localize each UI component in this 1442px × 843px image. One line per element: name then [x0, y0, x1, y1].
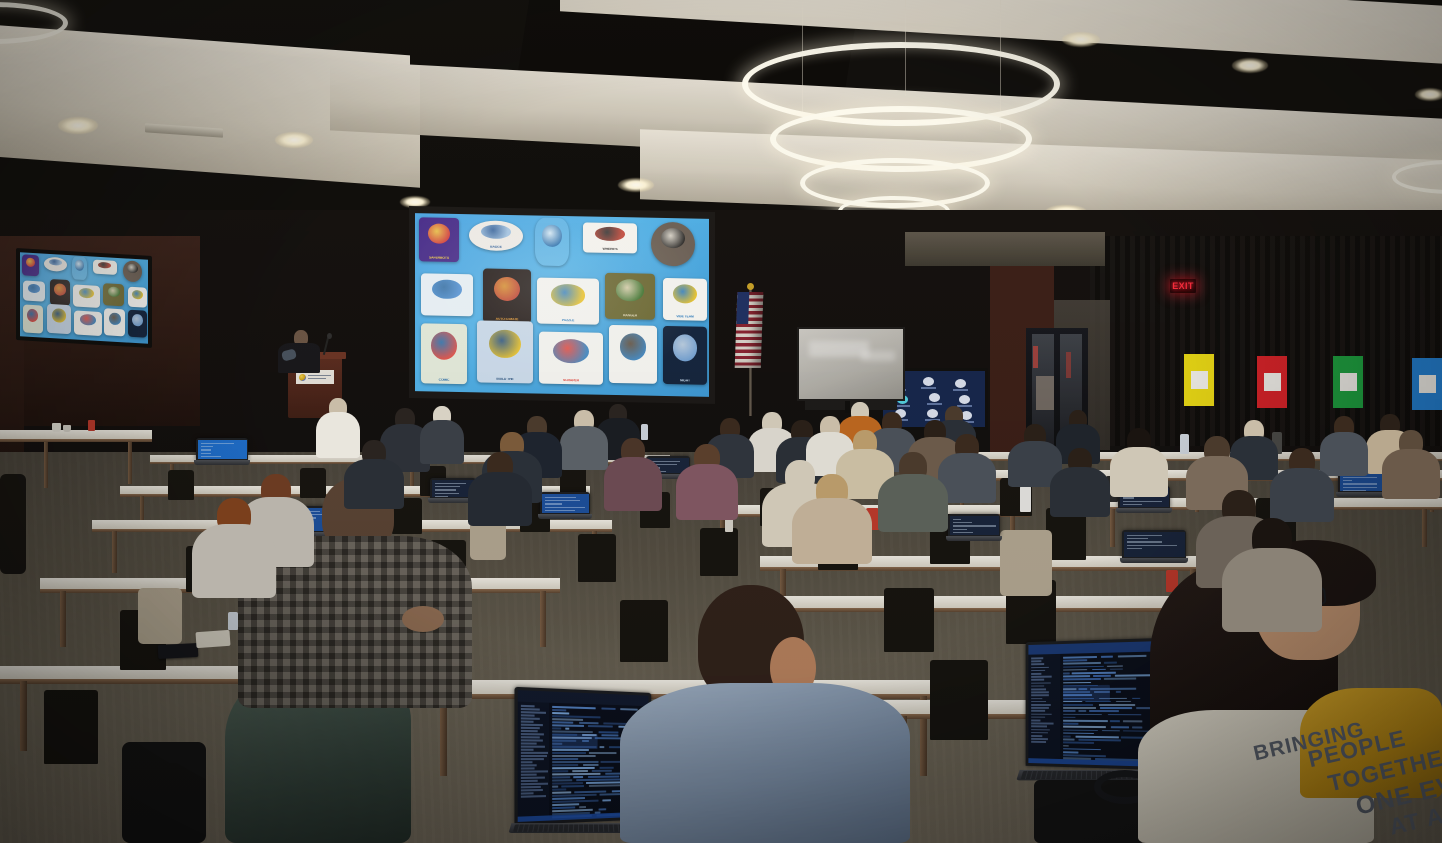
audience-torso: [604, 457, 662, 511]
code-line: [552, 779, 572, 781]
file-tree-item[interactable]: [1031, 695, 1048, 697]
screen-line: [1127, 535, 1163, 536]
speaker: [276, 330, 320, 372]
screen-line: [201, 449, 212, 450]
screen-line: [201, 456, 221, 457]
slide-tile-motif: [80, 314, 96, 326]
poster-red: [1257, 356, 1287, 408]
slide-tile-blue-character: [421, 273, 473, 316]
code-line: [552, 721, 573, 723]
code-line: [1063, 675, 1090, 677]
code-line: [586, 781, 621, 783]
audience-member: [1050, 448, 1110, 524]
chair[interactable]: [168, 470, 194, 500]
slide-tile-motif: [98, 262, 111, 269]
file-tree-item[interactable]: [521, 786, 541, 788]
code-line: [552, 782, 582, 784]
smartphone[interactable]: [158, 643, 199, 659]
slide-tile-shield-badge: [44, 256, 68, 272]
downlight: [618, 178, 654, 192]
file-tree-item[interactable]: [521, 746, 545, 748]
slide-tile-motif: [620, 333, 647, 360]
attendee-foreground-center: [620, 585, 910, 843]
code-line: [1132, 727, 1141, 729]
chair[interactable]: [930, 660, 988, 740]
code-line: [552, 803, 579, 805]
slide-tile-saferbots: [22, 254, 39, 276]
code-selection: [1063, 685, 1110, 701]
slide-tile-vibe-team: VIBE TEAM: [663, 278, 707, 321]
slide-tile-field-ranger: RANGER: [605, 273, 655, 320]
screen-line: [545, 497, 576, 498]
downlight: [275, 132, 313, 148]
code-line: [1111, 727, 1129, 729]
file-tree-item[interactable]: [521, 749, 534, 751]
file-tree-item[interactable]: [1031, 735, 1042, 737]
file-tree-item[interactable]: [1031, 698, 1042, 700]
file-tree-item[interactable]: [1031, 710, 1045, 712]
file-tree-item[interactable]: [1031, 738, 1048, 740]
code-line: [601, 734, 618, 736]
file-tree-item[interactable]: [521, 789, 543, 791]
file-tree-item[interactable]: [521, 733, 544, 735]
main-projection-screen[interactable]: SAFERBOTSBADGEWHERE'SAUTO-O-MATEPUZZLERA…: [415, 213, 709, 397]
audience-member: [192, 498, 276, 608]
audience-torso: [878, 474, 948, 532]
code-line: [1132, 697, 1141, 699]
audience-member: [1110, 428, 1168, 504]
slide-tile-label: WHERE'S: [583, 248, 637, 253]
code-line: [552, 755, 596, 757]
file-tree-item[interactable]: [1031, 670, 1045, 672]
slide-tile-blue-character: [23, 281, 46, 302]
cup[interactable]: [63, 425, 71, 432]
file-tree-item[interactable]: [1031, 732, 1047, 734]
code-line: [552, 791, 571, 793]
file-tree-item[interactable]: [1031, 719, 1041, 721]
slide-tile-motif: [489, 329, 520, 358]
code-line: [1063, 726, 1105, 728]
code-line: [1123, 720, 1142, 722]
slide-tile-motif: [127, 263, 138, 273]
file-tree-item[interactable]: [1031, 676, 1051, 678]
file-tree-item[interactable]: [1031, 682, 1051, 684]
monitor-node-icon: [959, 395, 970, 404]
code-line: [588, 725, 614, 727]
code-line: [552, 709, 567, 711]
screen-line: [1343, 487, 1378, 488]
audience-member: [1222, 518, 1322, 644]
code-line: [1063, 701, 1082, 703]
slide-tile-label: BUILD THE: [477, 378, 533, 383]
file-tree-item[interactable]: [521, 795, 546, 797]
file-tree-item[interactable]: [1031, 685, 1044, 687]
code-line: [552, 758, 578, 760]
file-tree-item[interactable]: [521, 792, 533, 794]
code-line: [1063, 656, 1097, 658]
file-tree-item[interactable]: [1031, 704, 1051, 706]
audience-torso: [792, 498, 872, 564]
code-line: [1072, 672, 1116, 674]
slide-tile-auto-o-mate: [50, 279, 71, 306]
audience-member: [420, 406, 464, 470]
slide-tile-motif: [79, 288, 94, 299]
audience-torso: [192, 524, 276, 598]
laptop-lid: [540, 492, 590, 514]
slide-tile-scraper-sprint: SCRAPER: [539, 332, 603, 385]
code-line: [1093, 675, 1111, 677]
laptop-lid: [948, 514, 1000, 536]
slide-tile-label: BADGE: [469, 246, 523, 251]
projection-screen-frame: SAFERBOTSBADGEWHERE'SAUTO-O-MATEPUZZLERA…: [409, 206, 715, 404]
table-leg: [20, 681, 27, 751]
code-line: [1063, 659, 1087, 661]
slide-tile-scraper-sprint: [74, 310, 102, 336]
code-line: [1103, 662, 1116, 664]
slide-tile-motif: [432, 279, 461, 299]
laptop-base: [1336, 492, 1386, 497]
code-line: [599, 767, 613, 769]
chair-upholstered[interactable]: [138, 588, 182, 644]
exit-sign-label: EXIT: [1172, 281, 1194, 291]
file-tree-item[interactable]: [1031, 679, 1044, 681]
cup[interactable]: [52, 423, 61, 432]
code-line: [552, 773, 600, 775]
slide-tile-astronaut-mascot: [72, 256, 87, 280]
left-wall-monitor-frame: [16, 248, 152, 348]
code-line: [1085, 701, 1111, 703]
downlight: [1232, 58, 1268, 73]
slide-tile-motif: [54, 283, 66, 295]
code-line: [1116, 701, 1131, 703]
screen-line: [1127, 548, 1143, 549]
file-tree-item[interactable]: [521, 770, 548, 772]
monitor-node-icon: [929, 393, 940, 402]
audience-torso: [1110, 447, 1168, 497]
screen-line: [201, 453, 211, 454]
slide-tile-puzzle-quest: [73, 285, 100, 308]
code-line: [1110, 720, 1120, 722]
monitor-node-label: [927, 403, 942, 405]
laptop-screen[interactable]: [198, 440, 247, 459]
file-tree-item[interactable]: [1031, 716, 1045, 718]
laptop[interactable]: [196, 438, 248, 465]
file-tree-item[interactable]: [521, 761, 532, 763]
code-line: [1063, 729, 1098, 731]
file-tree-item[interactable]: [521, 774, 537, 776]
slide-tile-motif: [542, 224, 561, 246]
code-line: [1078, 739, 1121, 741]
audience-torso: [1050, 467, 1110, 517]
slide-tile-motif: [661, 228, 686, 249]
code-line: [1063, 720, 1108, 722]
table-leg: [112, 531, 117, 573]
laptop-screen[interactable]: [950, 516, 999, 535]
slide-tile-raccoon-mascot: [609, 325, 657, 384]
slide-tile-night-drive: NIGHT: [663, 326, 707, 385]
file-tree-item[interactable]: [1031, 691, 1049, 693]
file-tree-item[interactable]: [1031, 688, 1046, 690]
code-line: [1063, 723, 1078, 725]
file-tree-item[interactable]: [1031, 726, 1047, 728]
paper-notes[interactable]: [195, 630, 230, 648]
file-tree-item[interactable]: [521, 727, 540, 729]
code-line: [552, 770, 569, 772]
slide-tile-raccoon-mascot: [104, 308, 125, 337]
file-tree-item[interactable]: [521, 752, 548, 754]
slide-tile-label: SCRAPER: [539, 379, 603, 384]
code-line: [1063, 732, 1094, 734]
chair-upholstered[interactable]: [1000, 530, 1052, 596]
table-leg: [60, 591, 66, 647]
code-selection: [552, 733, 597, 749]
audience-member: [878, 452, 948, 540]
slide-tile-motif: [428, 224, 450, 245]
file-tree-item[interactable]: [521, 736, 540, 738]
code-line: [565, 728, 569, 730]
chair[interactable]: [700, 528, 738, 576]
slide-tile-motif: [673, 284, 698, 304]
code-line: [601, 708, 616, 710]
code-line: [573, 776, 583, 778]
code-line: [1063, 745, 1068, 747]
file-tree-item[interactable]: [521, 758, 544, 760]
audience-torso: [676, 464, 738, 520]
code-line: [1063, 678, 1101, 680]
laptop-lid: [1122, 530, 1186, 558]
code-line: [598, 808, 606, 810]
screen-line: [201, 446, 213, 447]
code-line: [552, 718, 583, 720]
screen-line: [1127, 538, 1148, 539]
laptop-base: [946, 536, 1002, 541]
slide-tile-comic-cover: [23, 304, 43, 334]
screen-line: [545, 507, 586, 508]
file-tree-item[interactable]: [521, 724, 543, 726]
slide-tile-motif: [595, 227, 625, 241]
downlight: [1062, 32, 1100, 47]
slide-tile-motif: [109, 312, 121, 325]
table-leg: [1422, 509, 1427, 547]
code-line: [576, 778, 621, 780]
left-wall-monitor[interactable]: [20, 252, 148, 344]
file-tree-item[interactable]: [1031, 673, 1041, 675]
podium-logo-icon: [299, 374, 306, 381]
code-line: [1063, 748, 1101, 750]
audience-member: [676, 444, 738, 528]
chair[interactable]: [578, 534, 616, 582]
file-tree-item[interactable]: [521, 739, 543, 741]
laptop[interactable]: [948, 514, 1000, 541]
slide-tile-motif: [132, 314, 143, 327]
code-line: [552, 730, 593, 732]
audience-torso: [560, 426, 608, 470]
screen-line: [953, 522, 972, 523]
slide-tile-label: RANGER: [605, 314, 655, 319]
file-tree-item[interactable]: [521, 742, 537, 744]
file-tree-item[interactable]: [521, 783, 548, 785]
file-tree-item[interactable]: [1031, 657, 1043, 659]
code-line: [1089, 710, 1119, 712]
downlight: [58, 117, 98, 134]
code-line: [1107, 665, 1123, 667]
code-line: [552, 727, 561, 729]
file-tree-item[interactable]: [1031, 723, 1053, 725]
monitor-node-icon: [923, 377, 934, 386]
audience-torso: [344, 459, 404, 509]
slide-tile-motif: [27, 308, 38, 322]
audience-member: [792, 474, 872, 574]
monitor-node-label: [953, 389, 968, 391]
wall-ledge: [905, 232, 1105, 266]
file-tree-item[interactable]: [521, 705, 535, 707]
slide-tile-motif: [49, 259, 62, 266]
american-flag: [735, 292, 764, 368]
podium-plaque-lines: [308, 374, 331, 381]
code-line: [1110, 668, 1122, 670]
code-line: [1063, 665, 1103, 667]
code-line: [583, 764, 599, 766]
file-tree-item[interactable]: [1031, 660, 1041, 662]
file-tree-item[interactable]: [521, 764, 537, 766]
slide-tile-motif: [494, 276, 521, 301]
slide-tile-puzzle-quest: PUZZLE: [537, 278, 599, 325]
screen-line: [953, 532, 973, 533]
code-line: [589, 752, 617, 754]
code-line: [1063, 710, 1076, 712]
slide-tile-vibe-team: [128, 287, 147, 308]
code-line: [1063, 707, 1096, 709]
downlight: [1415, 88, 1442, 101]
code-line: [1063, 713, 1102, 715]
laptop[interactable]: [540, 492, 590, 519]
code-line: [579, 722, 599, 724]
code-line: [600, 793, 621, 795]
code-line: [1104, 678, 1137, 680]
slide-tile-saferbots: SAFERBOTS: [419, 217, 459, 262]
whiteboard: [797, 327, 905, 401]
slide-tile-wheres-waldo: [93, 259, 117, 275]
slide-tile-label: NIGHT: [663, 379, 707, 383]
code-line: [552, 800, 599, 803]
screen-line: [1127, 541, 1163, 542]
audience-torso: [420, 420, 464, 464]
code-line: [1078, 710, 1086, 712]
code-line: [1063, 742, 1094, 744]
file-tree-item[interactable]: [521, 717, 540, 719]
conference-room-scene: EXIT SAFERBOTSBADGEWHERE'SAUTO-O-MATEPUZ…: [0, 0, 1442, 843]
audience-member: [560, 410, 608, 476]
slide-tile-motif: [75, 260, 83, 271]
table-leg: [1110, 509, 1115, 547]
monitor-node-label: [921, 387, 936, 389]
slide-tile-motif: [132, 290, 143, 300]
audience-member: [344, 440, 404, 516]
file-tree-item[interactable]: [1031, 707, 1049, 709]
code-line: [561, 785, 584, 787]
file-tree-item[interactable]: [1031, 713, 1051, 715]
slide-tile-motif: [26, 257, 36, 267]
slide-tile-motif: [616, 279, 644, 301]
slide-tile-motif: [52, 308, 66, 322]
file-tree-item[interactable]: [521, 708, 539, 710]
slide-tile-motif: [481, 225, 511, 239]
code-line: [1101, 656, 1113, 658]
file-tree-item[interactable]: [1031, 729, 1049, 731]
file-tree-item[interactable]: [521, 711, 546, 713]
code-line: [552, 776, 570, 778]
chair[interactable]: [44, 690, 98, 764]
file-tree-item[interactable]: [1031, 663, 1044, 665]
audience-member: [468, 452, 532, 534]
monitor-node-label: [895, 405, 910, 407]
screen-line: [1127, 545, 1177, 546]
code-line: [1099, 707, 1131, 709]
file-tree-item[interactable]: [521, 730, 538, 732]
chair[interactable]: [0, 474, 26, 574]
backpack[interactable]: [122, 742, 206, 843]
code-line: [1076, 736, 1119, 738]
screen-line: [545, 503, 563, 504]
code-line: [603, 799, 611, 801]
laptop[interactable]: [1122, 530, 1186, 563]
screen-line: [545, 510, 575, 511]
laptop-screen[interactable]: [542, 494, 589, 513]
file-tree-item[interactable]: [1031, 741, 1046, 743]
attendee-hand: [402, 606, 444, 632]
audience-member: [1382, 430, 1440, 506]
slide-tile-label: VIBE TEAM: [663, 315, 707, 319]
file-tree-item[interactable]: [521, 780, 538, 782]
laptop-screen[interactable]: [1124, 532, 1185, 557]
code-line: [1063, 669, 1087, 671]
slide-tile-label: SAFERBOTS: [419, 257, 459, 261]
slide-tile-motif: [673, 334, 698, 361]
poster-blue: [1412, 358, 1442, 410]
laptop-lid: [196, 438, 248, 460]
code-line: [1063, 751, 1078, 753]
file-tree-item[interactable]: [1031, 666, 1049, 668]
slide-tile-astronaut-mascot: [535, 217, 569, 266]
file-tree-item[interactable]: [521, 720, 534, 722]
slide-tile-round-photo: [123, 260, 142, 282]
monitor-node-icon: [955, 379, 966, 388]
file-tree-item[interactable]: [521, 767, 535, 769]
slide-tile-shield-badge: BADGE: [469, 220, 523, 251]
code-line: [1108, 714, 1142, 716]
file-tree-item[interactable]: [521, 714, 534, 716]
screen-line: [953, 529, 968, 530]
screen-line: [953, 525, 996, 526]
code-line: [1063, 662, 1101, 664]
audience-torso: [468, 472, 532, 526]
file-tree-item[interactable]: [521, 755, 547, 757]
code-line: [1102, 730, 1120, 732]
code-line: [1118, 655, 1147, 657]
microphone-head: [327, 333, 332, 339]
attendee-hoodie-grey: [620, 683, 910, 843]
laptop-base: [194, 460, 250, 465]
red-marker[interactable]: [88, 420, 95, 431]
slide-tile-motif: [553, 339, 589, 364]
audience-member: [604, 438, 662, 518]
slide-tile-build-the-thing: [47, 304, 71, 335]
file-tree-item[interactable]: [521, 777, 545, 779]
code-line: [1063, 672, 1070, 674]
code-line: [552, 806, 575, 808]
file-tree-item[interactable]: [1031, 701, 1046, 703]
screen-line: [545, 500, 580, 501]
